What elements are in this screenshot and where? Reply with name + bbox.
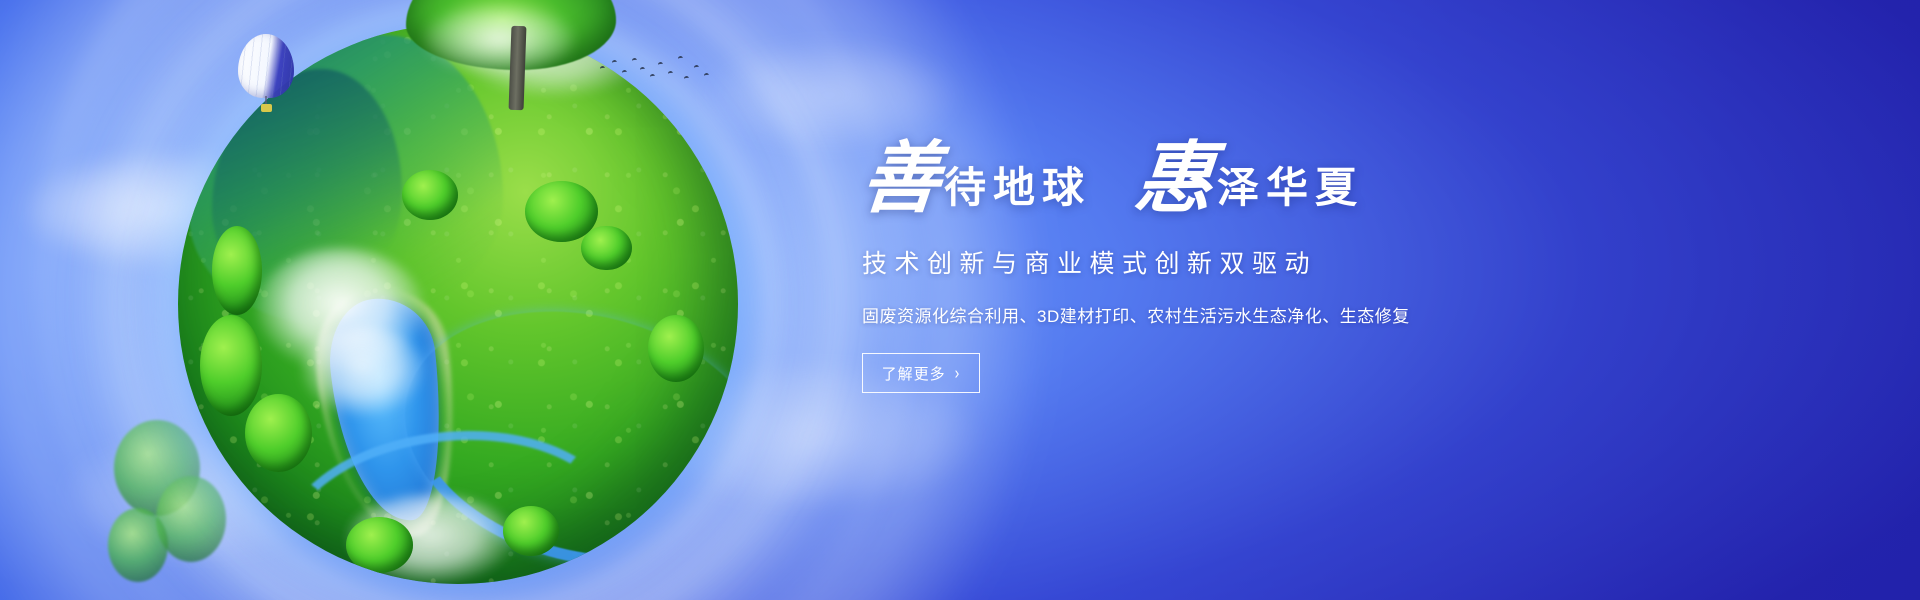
bush-icon bbox=[402, 170, 458, 220]
birds-flock-icon bbox=[596, 52, 716, 92]
bush-icon bbox=[200, 315, 262, 416]
cloud-over-globe bbox=[301, 326, 424, 416]
bush-icon bbox=[503, 506, 559, 556]
hero-description: 固废资源化综合利用、3D建材打印、农村生活污水生态净化、生态修复 bbox=[862, 302, 1622, 327]
headline-text-2: 泽华夏 bbox=[1217, 168, 1364, 218]
headline-char-1: 善 bbox=[859, 140, 944, 218]
hero-content: 善 待地球 惠 泽华夏 技术创新与商业模式创新双驱动 固废资源化综合利用、3D建… bbox=[862, 140, 1622, 393]
headline-text-1: 待地球 bbox=[944, 168, 1091, 218]
hero-banner: 善 待地球 惠 泽华夏 技术创新与商业模式创新双驱动 固废资源化综合利用、3D建… bbox=[0, 0, 1920, 600]
hot-air-balloon-icon bbox=[238, 34, 294, 120]
bush-icon bbox=[346, 517, 413, 573]
bush-icon bbox=[581, 226, 631, 271]
headline-char-2: 惠 bbox=[1132, 140, 1217, 218]
bush-icon bbox=[212, 226, 262, 316]
tree-icon bbox=[406, 0, 616, 112]
bush-icon bbox=[245, 394, 312, 472]
page-title: 善 待地球 惠 泽华夏 bbox=[862, 140, 1622, 218]
learn-more-button[interactable]: 了解更多 › bbox=[862, 353, 980, 393]
chevron-right-icon: › bbox=[955, 363, 961, 381]
learn-more-label: 了解更多 bbox=[882, 363, 946, 384]
hero-tagline: 技术创新与商业模式创新双驱动 bbox=[862, 244, 1622, 280]
